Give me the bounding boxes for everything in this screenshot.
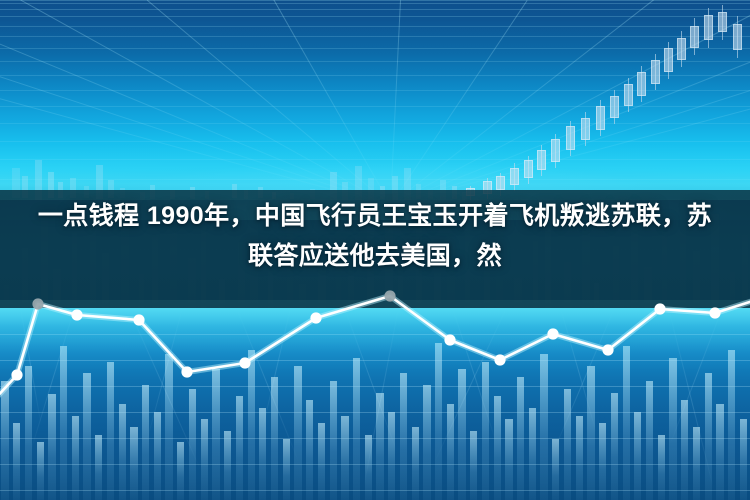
trend-line-glow: [0, 296, 750, 400]
trend-line-marker: [11, 369, 22, 380]
trend-line-marker: [547, 328, 558, 339]
trend-line-marker: [654, 303, 665, 314]
headline-line-1: 一点钱程 1990年，中国飞行员王宝玉开着飞机叛逃苏联，苏: [18, 196, 732, 236]
banner-image: 一点钱程 1990年，中国飞行员王宝玉开着飞机叛逃苏联，苏 联答应送他去美国，然: [0, 0, 750, 500]
trend-line-marker: [602, 344, 613, 355]
trend-line-marker: [181, 366, 192, 377]
headline-text: 一点钱程 1990年，中国飞行员王宝玉开着飞机叛逃苏联，苏 联答应送他去美国，然: [0, 196, 750, 276]
trend-line-marker: [133, 314, 144, 325]
trend-line-marker: [310, 312, 321, 323]
trend-line-marker: [71, 309, 82, 320]
trend-line-marker: [32, 298, 43, 309]
trend-line-marker: [239, 357, 250, 368]
trend-line-marker: [709, 307, 720, 318]
trend-line-path: [0, 296, 750, 400]
trend-line-marker: [494, 354, 505, 365]
trend-line-marker: [384, 290, 395, 301]
trend-line-marker: [444, 334, 455, 345]
headline-line-2: 联答应送他去美国，然: [18, 236, 732, 276]
